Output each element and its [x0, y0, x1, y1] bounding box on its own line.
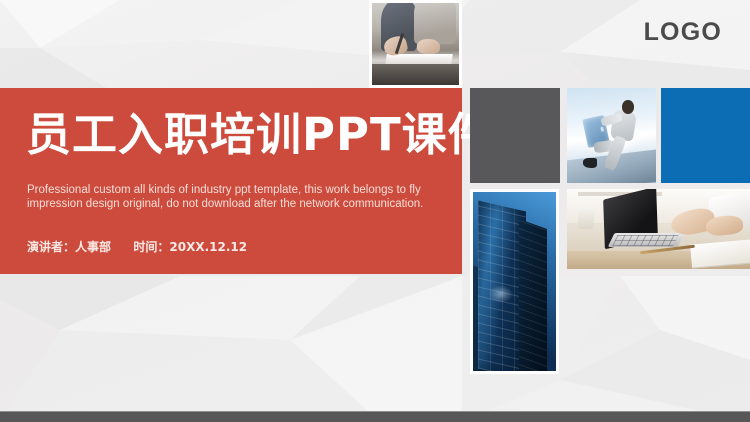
grey-color-block [470, 88, 560, 183]
meeting-signing-photo [369, 0, 462, 88]
window-reflection [488, 285, 513, 303]
presenter-label: 演讲者：人事部 [27, 240, 111, 254]
meeting-photo-art [372, 3, 459, 85]
title-panel: 员工入职培训PPT课件 Professional custom all kind… [0, 88, 462, 274]
blue-color-block [661, 88, 750, 183]
running-businessman-photo [567, 88, 656, 183]
running-photo-art [567, 88, 656, 183]
side-tower [519, 219, 547, 374]
date-label: 时间：20XX.12.12 [133, 240, 247, 254]
meeting-table [372, 64, 459, 85]
desk-photo-art [567, 189, 750, 269]
logo-text: LOGO [644, 18, 722, 47]
running-shoe [583, 158, 597, 168]
desk-cup [578, 207, 594, 229]
laptop-keyboard [607, 233, 684, 247]
page-title: 员工入职培训PPT课件 [26, 110, 494, 160]
laptop-desk-photo [567, 189, 750, 269]
skyscraper-photo [470, 189, 559, 374]
desk-notebook [691, 239, 750, 268]
bottom-bar [0, 411, 750, 422]
subtitle-text: Professional custom all kinds of industr… [27, 183, 447, 211]
skyscraper-photo-art [473, 192, 556, 371]
presentation-slide: LOGO 员工入职培训PPT课件 Professional custom all… [0, 0, 750, 422]
running-head [622, 100, 634, 113]
presenter-and-date: 演讲者：人事部 时间：20XX.12.12 [27, 238, 247, 255]
meeting-other-hand [417, 39, 440, 54]
meeting-person-right [414, 0, 456, 44]
